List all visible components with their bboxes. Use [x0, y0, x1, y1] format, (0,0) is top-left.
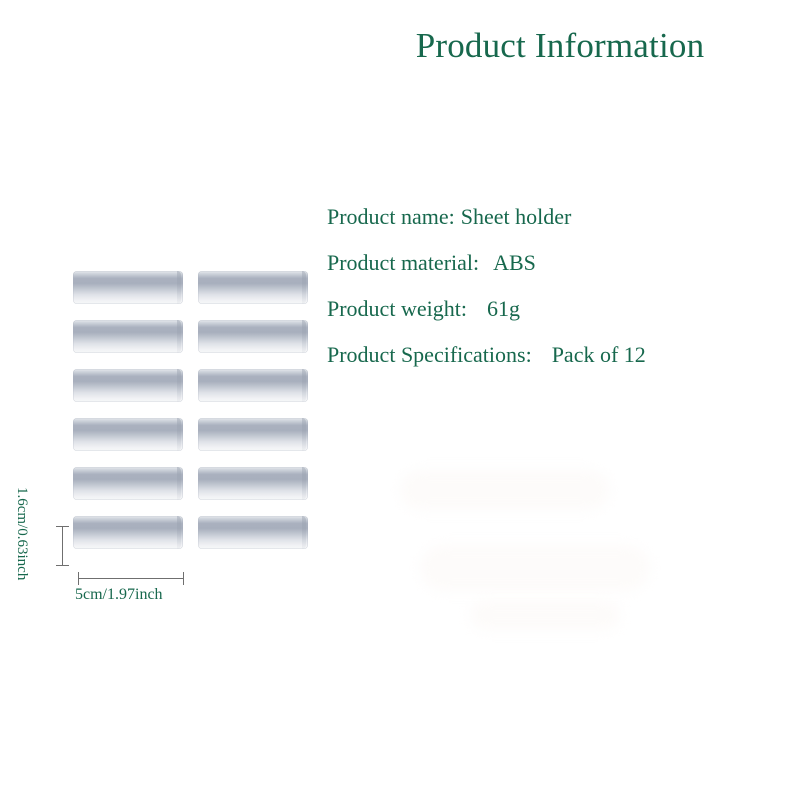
product-image-grid	[73, 271, 308, 549]
spec-value: Pack of 12	[552, 342, 646, 367]
spec-label: Product material:	[327, 250, 479, 275]
sheet-holder-clip	[198, 516, 308, 549]
sheet-holder-clip	[73, 320, 183, 353]
spec-row-product-material: Product material:ABS	[327, 240, 787, 286]
sheet-holder-clip	[198, 320, 308, 353]
sheet-holder-clip	[73, 271, 183, 304]
sheet-holder-clip	[198, 418, 308, 451]
spec-row-product-name: Product name:Sheet holder	[327, 194, 787, 240]
spec-label: Product Specifications:	[327, 342, 532, 367]
spec-row-product-specifications: Product Specifications:Pack of 12	[327, 332, 787, 378]
product-spec-list: Product name:Sheet holder Product materi…	[327, 194, 787, 378]
sheet-holder-clip	[198, 271, 308, 304]
sheet-holder-clip	[73, 516, 183, 549]
sheet-holder-clip	[198, 369, 308, 402]
sheet-holder-clip	[198, 467, 308, 500]
product-information-page: Product Information Product name:Sheet h…	[0, 0, 800, 800]
spec-value: Sheet holder	[461, 204, 572, 229]
height-dimension-label: 1.6cm/0.63inch	[13, 487, 30, 580]
spec-value: ABS	[493, 250, 536, 275]
height-dimension-line	[62, 526, 63, 566]
page-title: Product Information	[340, 24, 780, 68]
spec-value: 61g	[487, 296, 520, 321]
sheet-holder-clip	[73, 418, 183, 451]
spec-label: Product name:	[327, 204, 455, 229]
background-artifact	[420, 545, 650, 591]
sheet-holder-clip	[73, 369, 183, 402]
spec-row-product-weight: Product weight:61g	[327, 286, 787, 332]
sheet-holder-clip	[73, 467, 183, 500]
background-artifact	[470, 600, 620, 630]
width-dimension-line	[78, 578, 184, 579]
width-dimension-label: 5cm/1.97inch	[75, 586, 163, 604]
background-artifact	[400, 470, 610, 510]
spec-label: Product weight:	[327, 296, 467, 321]
